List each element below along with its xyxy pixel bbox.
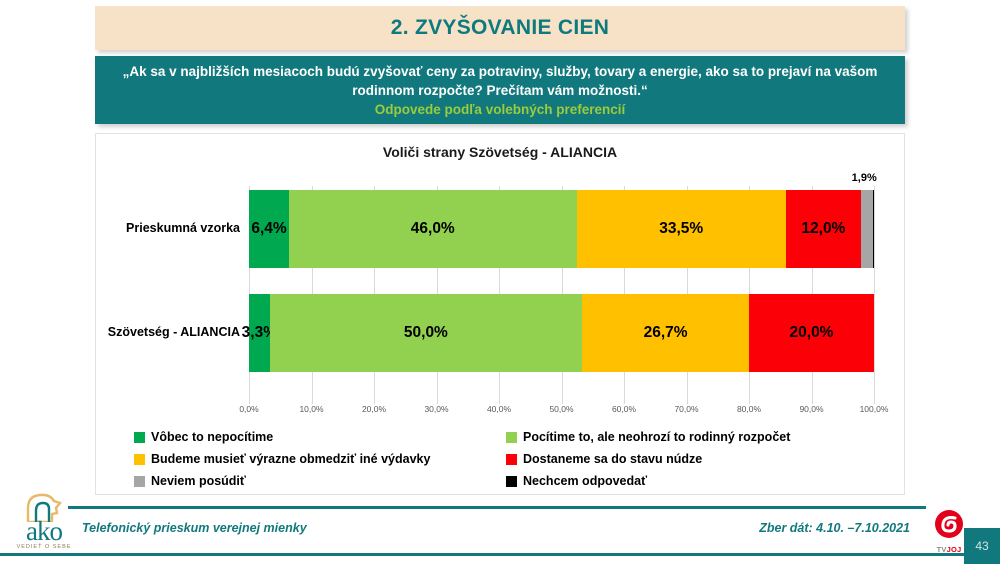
x-axis: 0,0%10,0%20,0%30,0%40,0%50,0%60,0%70,0%8… — [249, 404, 874, 418]
footer-bottom-divider — [0, 553, 1000, 556]
bar-segment: 6,4% — [249, 190, 289, 268]
legend-item[interactable]: Vôbec to nepocítime — [134, 426, 506, 448]
joj-spiral-icon — [934, 509, 964, 539]
legend-swatch — [134, 454, 145, 465]
chart-row-szovetseg-aliancia: Szövetség - ALIANCIA 3,3%50,0%26,7%20,0% — [96, 294, 906, 372]
chart-row-prieskumna-vzorka: Prieskumná vzorka 6,4%46,0%33,5%12,0%1,9… — [96, 190, 906, 268]
plot-area: Prieskumná vzorka 6,4%46,0%33,5%12,0%1,9… — [96, 168, 906, 406]
x-axis-tick: 50,0% — [549, 404, 573, 414]
chart-legend: Vôbec to nepocítimePocítime to, ale neoh… — [96, 426, 906, 492]
legend-label: Dostaneme sa do stavu núdze — [523, 452, 702, 466]
footer-date-text: Zber dát: 4.10. –7.10.2021 — [759, 521, 910, 535]
x-axis-tick: 0,0% — [239, 404, 258, 414]
legend-label: Budeme musieť výrazne obmedziť iné výdav… — [151, 452, 430, 466]
category-label-1: Szövetség - ALIANCIA — [96, 325, 249, 341]
x-axis-tick: 70,0% — [674, 404, 698, 414]
legend-swatch — [506, 432, 517, 443]
bar-segment-label: 20,0% — [790, 324, 834, 342]
x-axis-tick: 100,0% — [860, 404, 889, 414]
page-title: 2. ZVYŠOVANIE CIEN — [391, 16, 610, 40]
x-axis-tick: 10,0% — [299, 404, 323, 414]
x-axis-tick: 80,0% — [737, 404, 761, 414]
ako-logo: ako VEDIEŤ O SEBE — [8, 496, 80, 558]
chart-panel: Voliči strany Szövetség - ALIANCIA Pries… — [95, 133, 905, 495]
x-axis-tick: 40,0% — [487, 404, 511, 414]
bar-segment: 20,0% — [749, 294, 874, 372]
tvjoj-tv-text: TV — [937, 545, 947, 554]
x-axis-tick: 30,0% — [424, 404, 448, 414]
legend-item[interactable]: Nechcem odpovedať — [506, 470, 878, 492]
bar-segment-label: 6,4% — [251, 220, 286, 238]
page-number-badge: 43 — [964, 528, 1000, 564]
bar-segment — [873, 190, 874, 268]
legend-label: Pocítime to, ale neohrozí to rodinný roz… — [523, 430, 790, 444]
tvjoj-joj-text: JOJ — [947, 545, 962, 554]
slide-title-banner: 2. ZVYŠOVANIE CIEN — [95, 6, 905, 50]
footer-divider — [68, 506, 926, 509]
bar-segment-label: 1,9% — [852, 172, 877, 184]
chart-title: Voliči strany Szövetség - ALIANCIA — [96, 144, 904, 160]
bar-segment-label: 26,7% — [644, 324, 688, 342]
legend-swatch — [134, 432, 145, 443]
question-text: „Ak sa v najbližších mesiacoch budú zvyš… — [121, 62, 879, 100]
stacked-bar-1: 3,3%50,0%26,7%20,0% — [249, 294, 874, 372]
bar-segment: 12,0% — [786, 190, 861, 268]
x-axis-tick: 60,0% — [612, 404, 636, 414]
bar-segment-label: 46,0% — [411, 220, 455, 238]
bar-segment-label: 12,0% — [801, 220, 845, 238]
footer-left-text: Telefonický prieskum verejnej mienky — [82, 521, 307, 535]
ako-tagline: VEDIEŤ O SEBE — [8, 544, 80, 550]
x-axis-tick: 20,0% — [362, 404, 386, 414]
bar-segment: 46,0% — [289, 190, 577, 268]
ako-wordmark: ako — [8, 518, 80, 545]
stacked-bar-0: 6,4%46,0%33,5%12,0%1,9% — [249, 190, 874, 268]
x-axis-tick: 90,0% — [799, 404, 823, 414]
question-subtitle: Odpovede podľa volebných preferencií — [375, 102, 626, 117]
question-box: „Ak sa v najbližších mesiacoch budú zvyš… — [95, 56, 905, 124]
bar-segment: 33,5% — [577, 190, 786, 268]
legend-item[interactable]: Budeme musieť výrazne obmedziť iné výdav… — [134, 448, 506, 470]
bar-segment-label: 33,5% — [659, 220, 703, 238]
bar-segment-label: 50,0% — [404, 324, 448, 342]
legend-swatch — [506, 476, 517, 487]
category-label-0: Prieskumná vzorka — [96, 221, 249, 237]
bar-segment: 1,9% — [861, 190, 873, 268]
legend-label: Vôbec to nepocítime — [151, 430, 273, 444]
legend-label: Neviem posúdiť — [151, 474, 246, 488]
legend-item[interactable]: Pocítime to, ale neohrozí to rodinný roz… — [506, 426, 878, 448]
bar-segment: 3,3% — [249, 294, 270, 372]
legend-item[interactable]: Dostaneme sa do stavu núdze — [506, 448, 878, 470]
bar-segment: 26,7% — [582, 294, 749, 372]
legend-swatch — [506, 454, 517, 465]
legend-label: Nechcem odpovedať — [523, 474, 647, 488]
legend-swatch — [134, 476, 145, 487]
legend-item[interactable]: Neviem posúdiť — [134, 470, 506, 492]
bar-segment: 50,0% — [270, 294, 583, 372]
